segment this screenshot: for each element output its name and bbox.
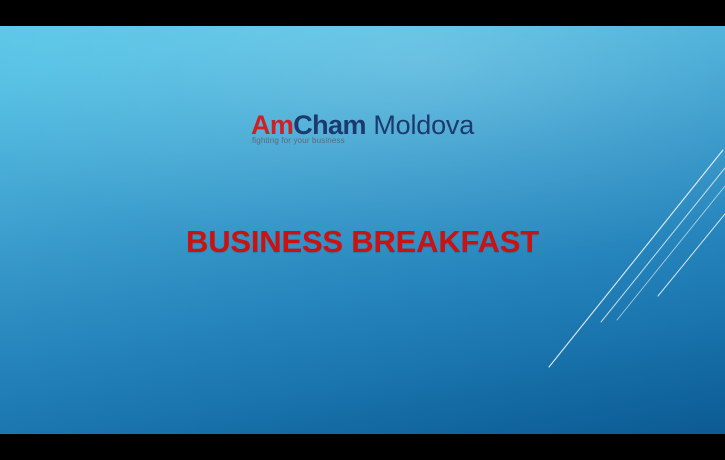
logo-tagline: fighting for your business: [252, 137, 345, 145]
slide-canvas: AmCham Moldova fighting for your busines…: [0, 26, 725, 434]
slide-title: BUSINESS BREAKFAST: [0, 224, 725, 260]
amcham-wordmark: AmCham Moldova fighting for your busines…: [251, 112, 474, 139]
amcham-logo: AmCham Moldova fighting for your busines…: [0, 112, 725, 139]
letterbox-bar-bottom: [0, 434, 725, 460]
logo-text-moldova: Moldova: [373, 110, 474, 140]
letterbox-bar-top: [0, 0, 725, 26]
slide-frame: AmCham Moldova fighting for your busines…: [0, 0, 725, 460]
